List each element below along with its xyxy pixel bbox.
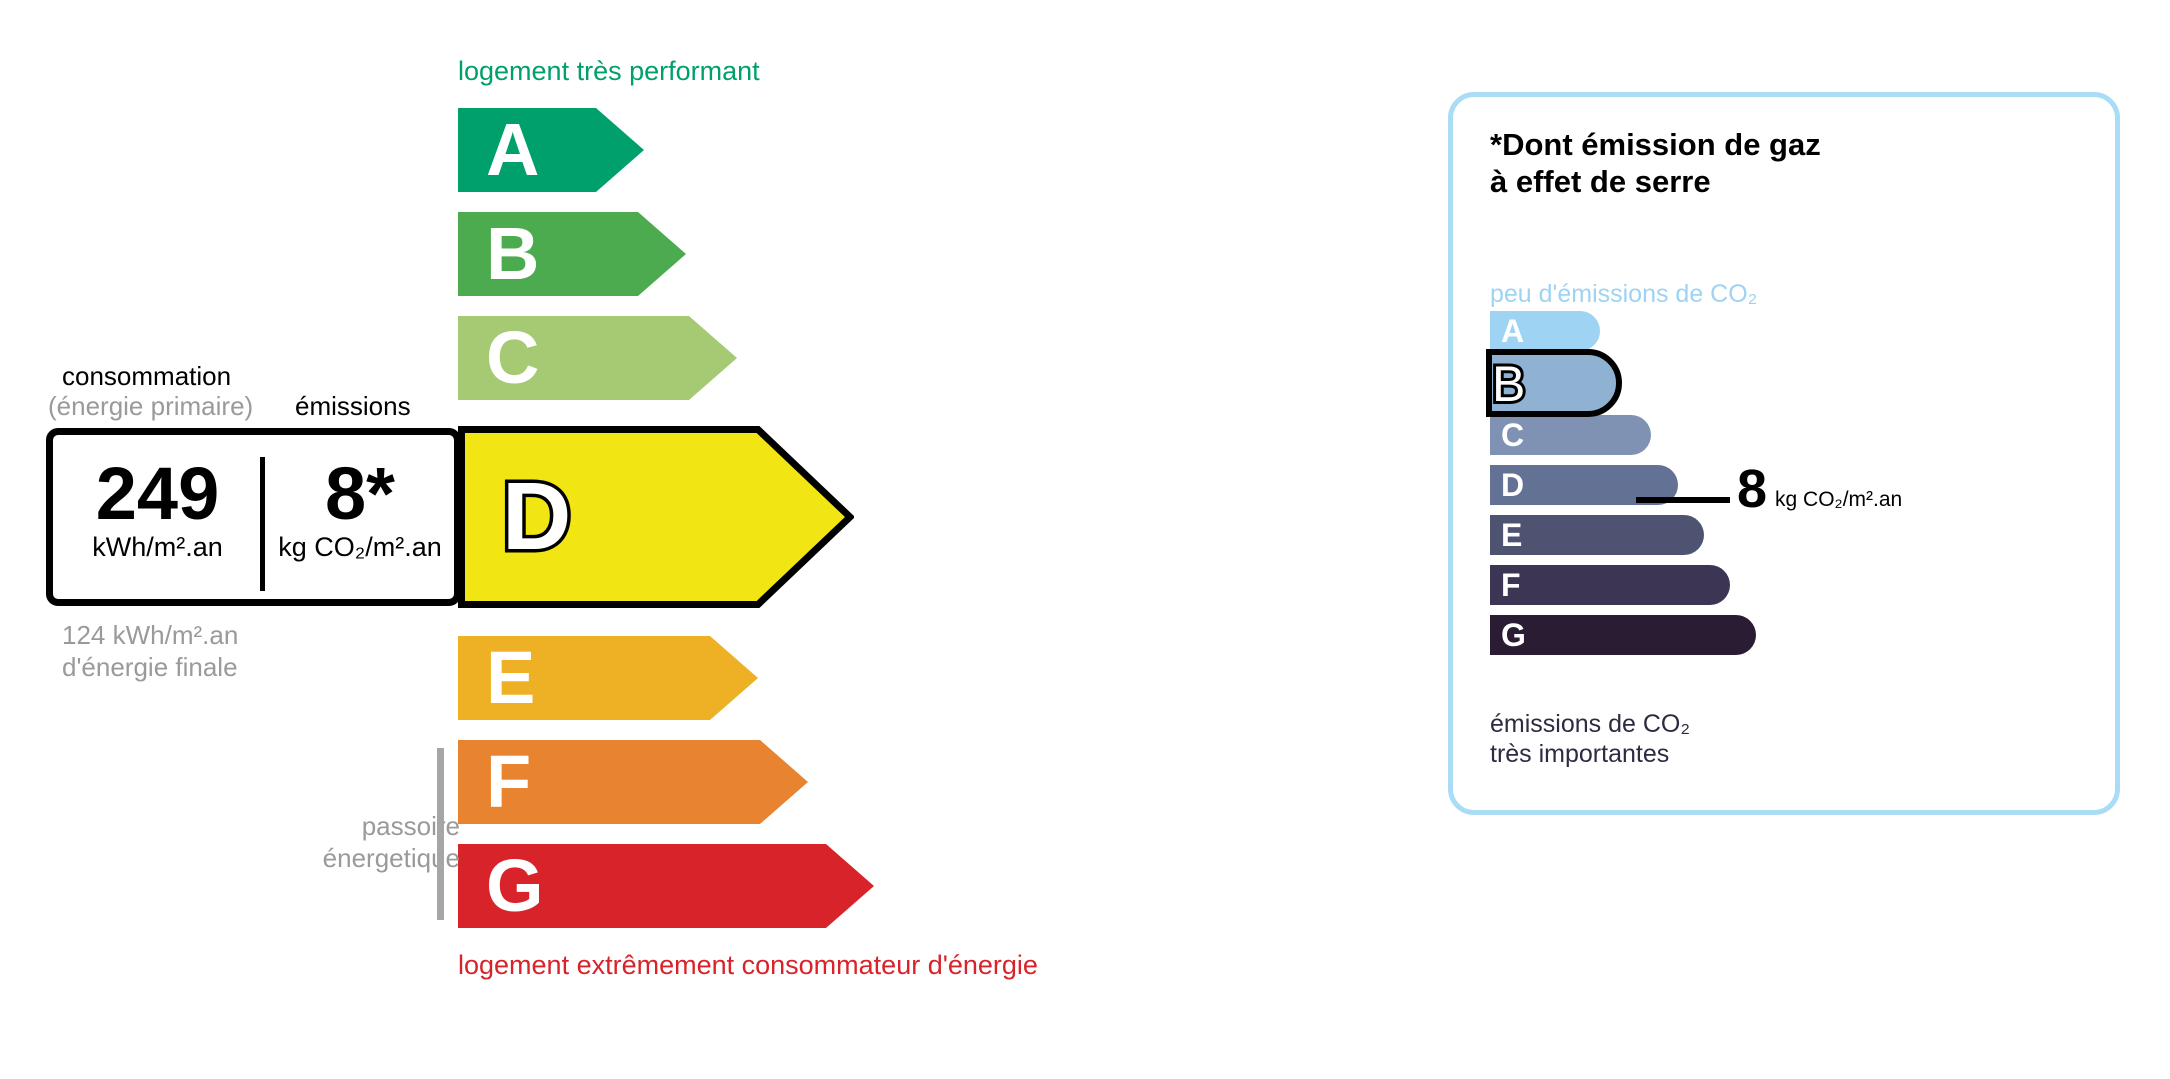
energy-class-letter-e: E bbox=[486, 641, 535, 715]
emissions-value-cell: 8* kg CO₂/m².an bbox=[265, 451, 455, 597]
value-box: 249 kWh/m².an 8* kg CO₂/m².an bbox=[46, 428, 461, 606]
co2-panel-title: *Dont émission de gaz à effet de serre bbox=[1490, 126, 1821, 200]
energy-bottom-caption: logement extrêmement consommateur d'éner… bbox=[458, 950, 1038, 981]
consumption-value-cell: 249 kWh/m².an bbox=[55, 451, 260, 597]
energy-class-bar-b: B bbox=[458, 212, 686, 296]
co2-class-letter-d: D bbox=[1501, 469, 1524, 501]
emissions-unit: kg CO₂/m².an bbox=[265, 532, 455, 563]
highlighted-class-letter: D bbox=[502, 469, 571, 565]
co2-class-bar-f: F bbox=[1490, 565, 1730, 605]
energy-class-bar-c: C bbox=[458, 316, 737, 400]
energy-class-letter-c: C bbox=[486, 321, 539, 395]
co2-class-letter-g: G bbox=[1501, 619, 1526, 651]
energy-class-bar-e: E bbox=[458, 636, 758, 720]
co2-emissions-panel: *Dont émission de gaz à effet de serre p… bbox=[1448, 92, 2120, 815]
highlighted-co2-class-letter: B bbox=[1492, 356, 1525, 412]
co2-class-letter-a: A bbox=[1501, 315, 1524, 347]
co2-class-letter-e: E bbox=[1501, 519, 1522, 551]
energy-top-caption: logement très performant bbox=[458, 56, 760, 87]
emissions-header-label: émissions bbox=[295, 391, 411, 422]
co2-class-letter-c: C bbox=[1501, 419, 1524, 451]
co2-class-bar-a: A bbox=[1490, 311, 1600, 351]
final-energy-note: 124 kWh/m².an d'énergie finale bbox=[62, 619, 238, 683]
highlighted-class-bar-d: D bbox=[458, 426, 854, 608]
co2-class-bar-g: G bbox=[1490, 615, 1756, 655]
energy-consumption-panel: logement très performant ABCEFG consomma… bbox=[0, 0, 1340, 1079]
co2-value-unit: kg CO₂/m².an bbox=[1775, 488, 1902, 516]
co2-class-bar-c: C bbox=[1490, 415, 1651, 455]
passoire-energetique-bracket bbox=[437, 748, 444, 920]
co2-class-bar-e: E bbox=[1490, 515, 1704, 555]
dpe-label: logement très performant ABCEFG consomma… bbox=[0, 0, 2170, 1079]
highlighted-co2-class-bar-b: B bbox=[1486, 349, 1622, 417]
consumption-subheader-label: (énergie primaire) bbox=[48, 391, 253, 422]
consumption-unit: kWh/m².an bbox=[55, 532, 260, 563]
consumption-header-label: consommation bbox=[62, 361, 231, 392]
energy-class-bar-a: A bbox=[458, 108, 644, 192]
energy-class-letter-f: F bbox=[486, 745, 531, 819]
energy-class-letter-b: B bbox=[486, 217, 539, 291]
emissions-value: 8* bbox=[265, 451, 455, 536]
consumption-value: 249 bbox=[55, 451, 260, 536]
co2-class-letter-f: F bbox=[1501, 569, 1521, 601]
energy-class-bar-f: F bbox=[458, 740, 808, 824]
co2-value-group: 8 kg CO₂/m².an bbox=[1737, 462, 1902, 516]
energy-class-letter-a: A bbox=[486, 113, 539, 187]
co2-top-caption: peu d'émissions de CO₂ bbox=[1490, 280, 1757, 309]
co2-leader-line bbox=[1636, 497, 1730, 503]
energy-class-bar-g: G bbox=[458, 844, 874, 928]
co2-value: 8 bbox=[1737, 462, 1767, 516]
passoire-energetique-label: passoire énergetique bbox=[270, 810, 460, 874]
co2-bottom-caption: émissions de CO₂ très importantes bbox=[1490, 709, 1690, 769]
energy-class-letter-g: G bbox=[486, 849, 544, 923]
